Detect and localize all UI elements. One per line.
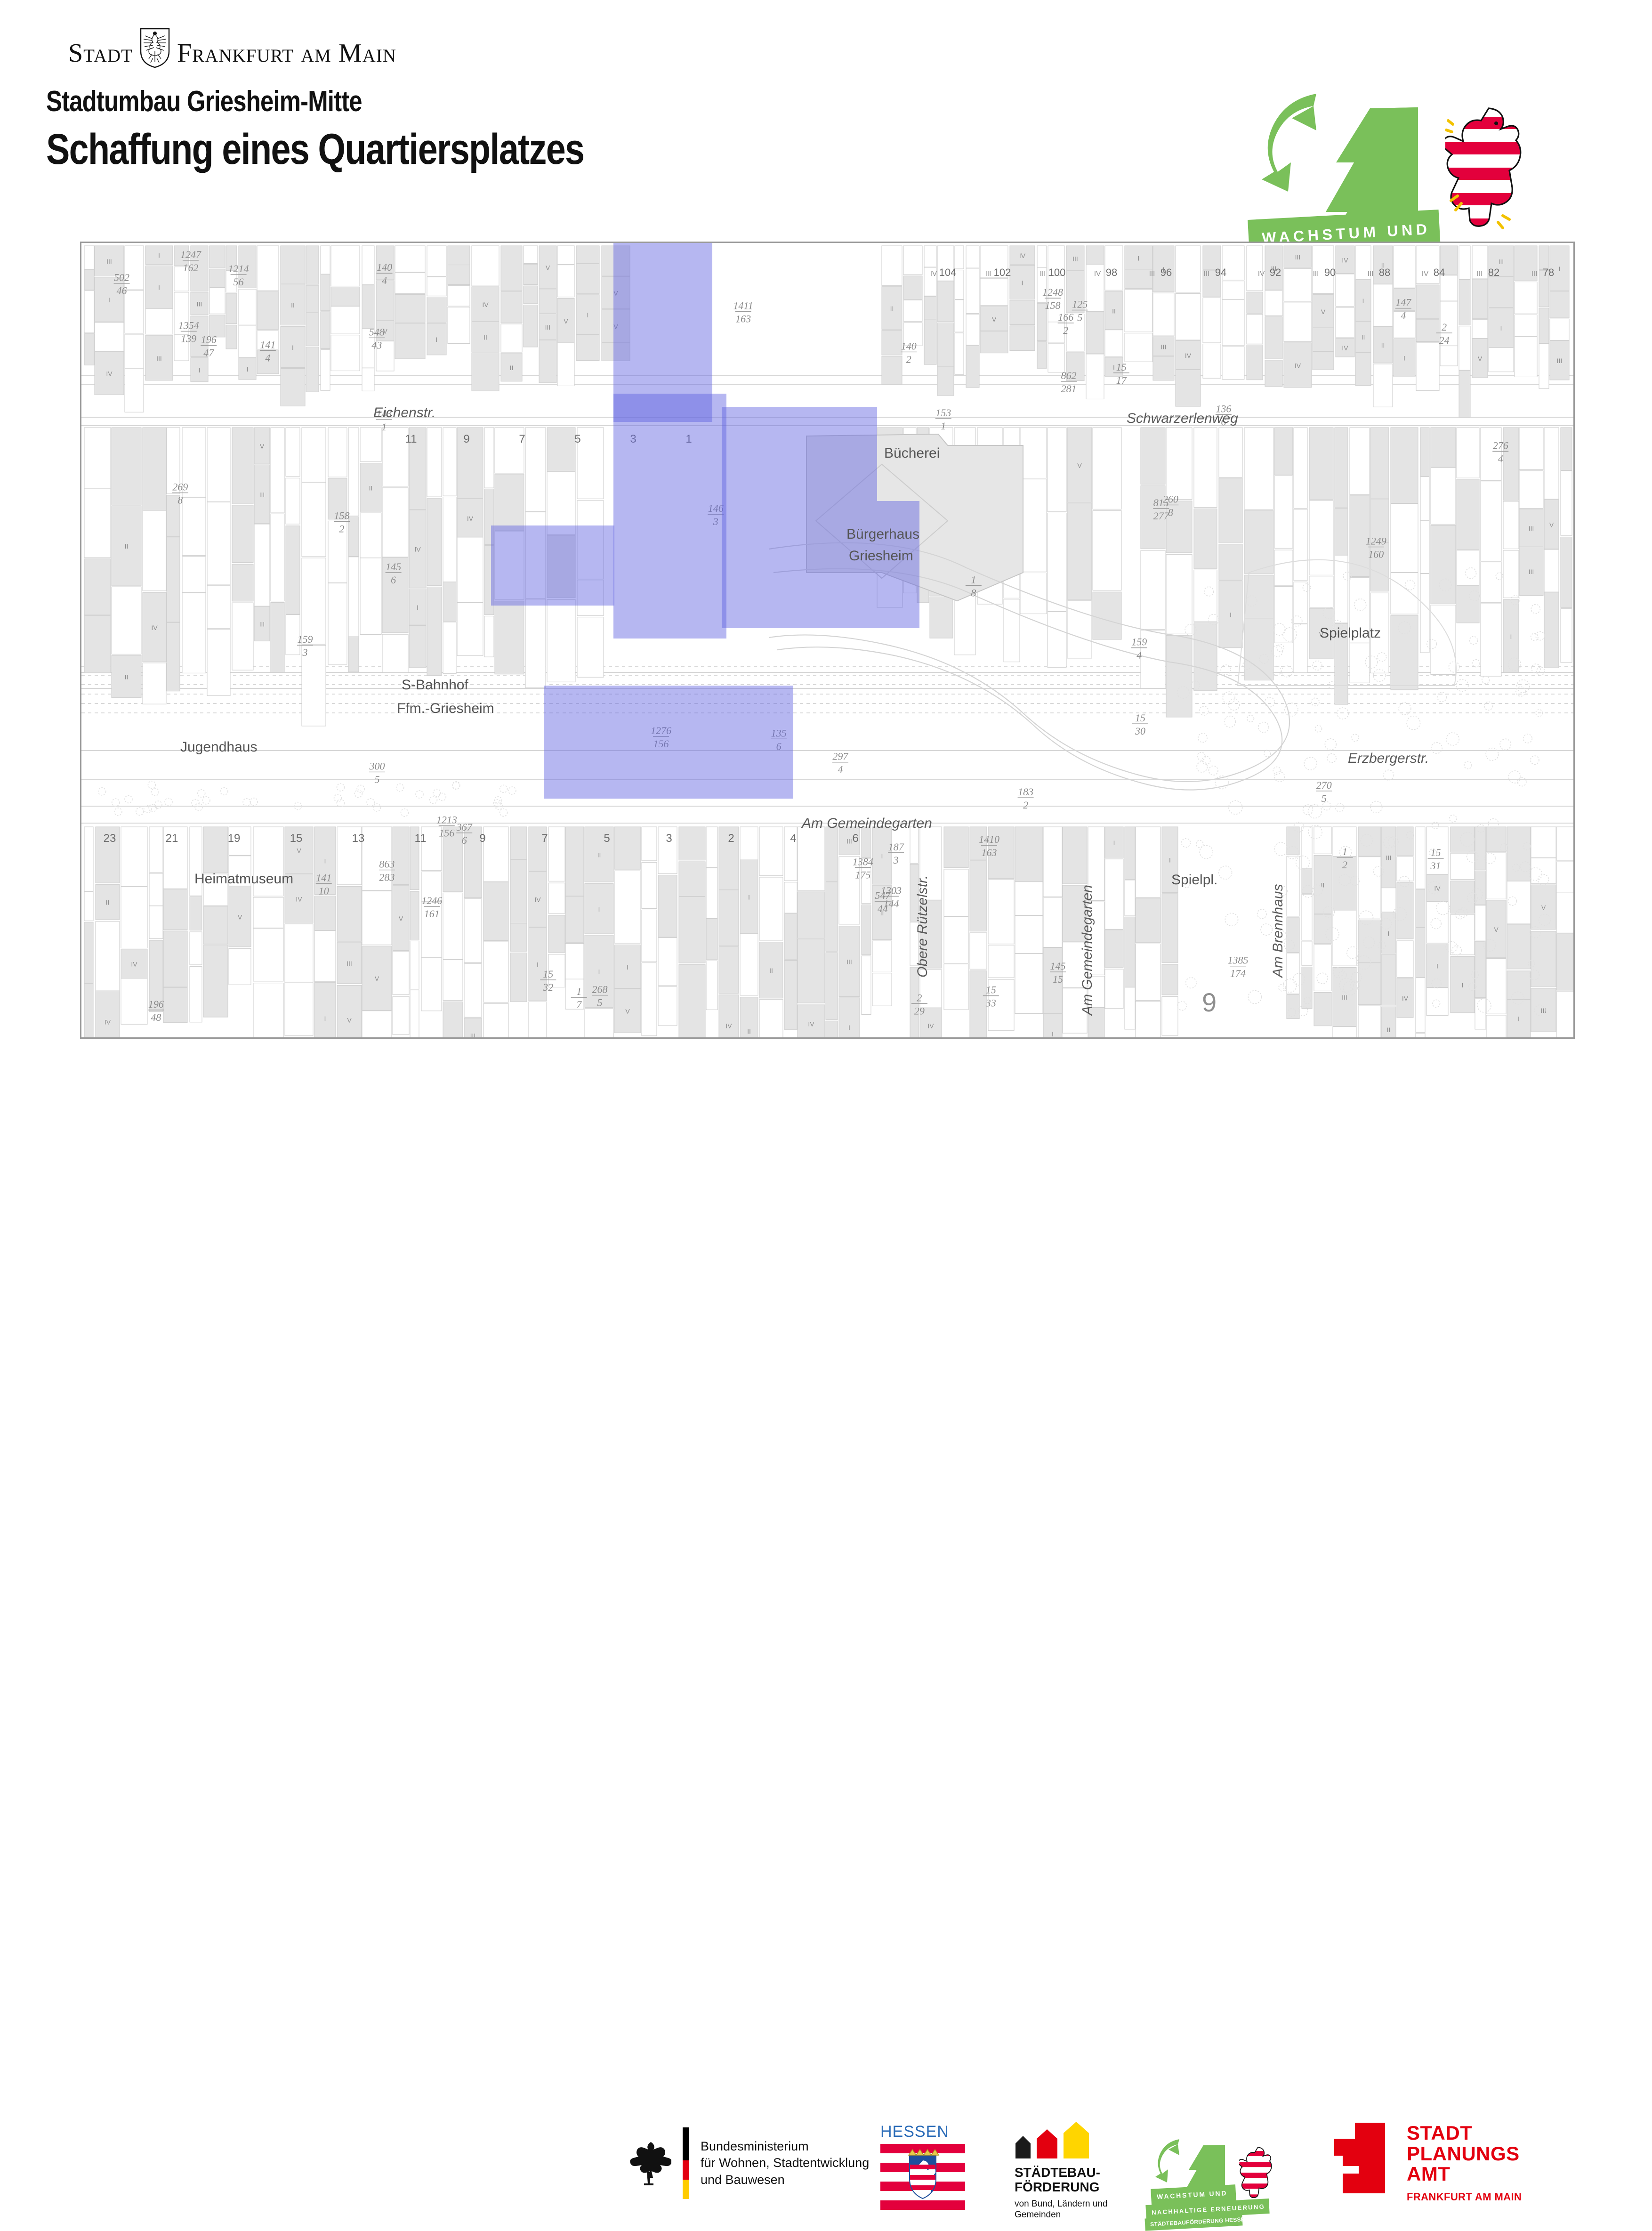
svg-text:125: 125 [1072, 298, 1088, 310]
svg-text:367: 367 [456, 821, 473, 833]
svg-text:17: 17 [1116, 374, 1127, 386]
svg-text:4: 4 [265, 352, 270, 364]
svg-text:V: V [1549, 521, 1554, 528]
map-big-number: 9 [1202, 987, 1217, 1018]
street-label-am-brennhaus: Am Brennhaus [1270, 884, 1286, 978]
svg-text:159: 159 [297, 633, 313, 645]
svg-text:1213: 1213 [436, 814, 457, 826]
street-label-am-gemeindegarten: Am Gemeindegarten [802, 816, 932, 832]
svg-text:863: 863 [379, 858, 395, 870]
svg-text:48: 48 [151, 1011, 161, 1023]
hessen-lion-icon-small [1239, 2145, 1276, 2204]
svg-text:IV: IV [1094, 270, 1101, 278]
svg-text:I: I [158, 283, 160, 291]
bundesadler-icon [626, 2136, 671, 2191]
svg-text:276: 276 [1493, 439, 1508, 451]
svg-text:6: 6 [462, 834, 467, 846]
svg-text:2: 2 [917, 992, 922, 1003]
highlight-area-south [544, 686, 793, 799]
svg-text:II: II [1112, 307, 1116, 315]
svg-text:15: 15 [1116, 361, 1127, 373]
svg-text:II: II [125, 673, 129, 681]
svg-text:23: 23 [104, 832, 116, 845]
svg-text:III: III [259, 491, 265, 498]
poi-jugendhaus: Jugendhaus [180, 739, 257, 755]
svg-text:43: 43 [371, 339, 382, 351]
svg-text:III: III [1531, 270, 1538, 278]
svg-text:IV: IV [1019, 252, 1026, 259]
highlight-area-east-wide [722, 501, 919, 628]
svg-text:III: III [106, 258, 112, 265]
svg-text:V: V [1494, 926, 1499, 933]
svg-text:547: 547 [875, 889, 891, 901]
svg-text:78: 78 [1543, 267, 1554, 278]
svg-text:II: II [747, 1027, 751, 1035]
svg-text:IV: IV [1342, 344, 1348, 352]
svg-text:1: 1 [576, 986, 581, 997]
svg-text:IV: IV [930, 270, 937, 278]
svg-text:I: I [587, 311, 589, 319]
svg-text:98: 98 [1106, 267, 1117, 278]
svg-text:IV: IV [534, 896, 541, 904]
svg-text:IV: IV [482, 301, 489, 308]
svg-text:I: I [1559, 265, 1561, 273]
highlight-area-west-arm [491, 525, 614, 606]
svg-text:III: III [197, 300, 202, 308]
svg-text:II: II [1321, 881, 1325, 889]
svg-text:III: III [1161, 343, 1167, 350]
svg-text:III: III [259, 620, 265, 628]
svg-text:III: III [1149, 270, 1155, 278]
svg-text:5: 5 [597, 997, 602, 1009]
svg-text:815: 815 [1153, 497, 1169, 509]
poi-buergerhaus: Bürgerhaus [846, 526, 919, 542]
svg-text:I: I [1403, 355, 1405, 362]
svg-text:15: 15 [290, 832, 303, 845]
three-houses-icon [1015, 2123, 1108, 2159]
german-flag-bar [683, 2127, 689, 2199]
hessen-lion-icon [1445, 104, 1530, 240]
svg-text:100: 100 [1048, 267, 1066, 278]
svg-text:I: I [1510, 633, 1512, 640]
svg-text:IV: IV [1402, 994, 1409, 1002]
svg-text:II: II [369, 485, 373, 492]
svg-text:2: 2 [1442, 321, 1447, 333]
svg-text:187: 187 [888, 841, 904, 853]
svg-text:2: 2 [1342, 859, 1347, 871]
svg-text:I: I [598, 905, 600, 913]
svg-text:3: 3 [666, 832, 672, 845]
svg-text:I: I [1113, 839, 1115, 847]
svg-text:1248: 1248 [1042, 286, 1063, 298]
svg-text:V: V [375, 975, 379, 982]
svg-text:140: 140 [901, 340, 917, 352]
svg-text:147: 147 [1395, 297, 1411, 308]
svg-text:13: 13 [352, 832, 365, 845]
svg-text:I: I [108, 296, 110, 304]
svg-text:160: 160 [1368, 549, 1384, 560]
svg-text:IV: IV [131, 961, 137, 968]
svg-text:III: III [1072, 255, 1078, 262]
svg-text:I: I [537, 961, 539, 968]
stadtplanungsamt-f-mark-icon [1332, 2123, 1389, 2193]
svg-text:141: 141 [260, 339, 275, 350]
svg-text:V: V [992, 315, 997, 323]
svg-text:24: 24 [1439, 334, 1450, 346]
frankfurt-eagle-crest-icon [139, 28, 170, 68]
svg-text:82: 82 [1488, 267, 1499, 278]
staedtebaufoerderung-logo: STÄDTEBAU- FÖRDERUNG von Bund, Ländern u… [1015, 2123, 1108, 2220]
svg-text:196: 196 [201, 334, 217, 346]
svg-text:1246: 1246 [421, 895, 442, 906]
svg-text:46: 46 [117, 285, 127, 297]
svg-text:1: 1 [971, 574, 976, 585]
poi-spielplatz: Spielplatz [1320, 625, 1381, 641]
svg-text:II: II [597, 851, 601, 859]
svg-text:3: 3 [302, 647, 307, 658]
svg-text:300: 300 [369, 760, 385, 772]
svg-text:862: 862 [1061, 370, 1077, 381]
svg-text:4: 4 [1498, 453, 1503, 464]
svg-text:I: I [1230, 611, 1232, 619]
svg-text:III: III [1295, 253, 1301, 261]
svg-text:II: II [1387, 1026, 1391, 1034]
svg-text:8: 8 [971, 587, 976, 598]
svg-text:90: 90 [1324, 267, 1336, 278]
svg-text:II: II [769, 967, 773, 974]
svg-text:V: V [546, 264, 550, 272]
city-logo-word-frankfurt: Frankfurt am Main [177, 40, 396, 66]
bmwsb-line2: für Wohnen, Stadtentwicklung [701, 2155, 869, 2172]
stadtplanungsamt-logo: STADT PLANUNGS AMT FRANKFURT AM MAIN [1332, 2123, 1522, 2203]
svg-text:III: III [1557, 357, 1563, 364]
svg-text:163: 163 [735, 313, 751, 324]
svg-text:V: V [238, 913, 242, 921]
svg-text:270: 270 [1316, 779, 1332, 791]
svg-text:15: 15 [1431, 847, 1441, 858]
svg-text:IV: IV [106, 370, 113, 378]
svg-text:III: III [1529, 568, 1534, 575]
svg-text:21: 21 [166, 832, 178, 845]
svg-text:31: 31 [1430, 860, 1441, 872]
staedtebau-line2: FÖRDERUNG [1015, 2180, 1108, 2194]
poster-header: Stadt Frankfurt am Main Stadtumbau Gries… [0, 0, 1652, 235]
svg-text:IV: IV [151, 624, 158, 631]
svg-text:162: 162 [183, 262, 198, 274]
svg-text:II: II [291, 301, 295, 309]
svg-text:174: 174 [1230, 968, 1246, 979]
svg-text:1354: 1354 [178, 319, 199, 331]
svg-text:I: I [748, 893, 750, 901]
svg-text:I: I [1052, 1030, 1054, 1037]
svg-text:V: V [1077, 461, 1082, 469]
svg-text:III: III [156, 355, 162, 362]
svg-text:9: 9 [463, 433, 469, 445]
svg-text:V: V [564, 317, 568, 325]
svg-text:V: V [297, 847, 301, 854]
svg-text:III: III [985, 270, 991, 278]
svg-text:I: I [436, 336, 438, 343]
svg-text:V: V [347, 1017, 352, 1024]
svg-text:2: 2 [728, 832, 734, 845]
svg-text:1411: 1411 [733, 299, 753, 311]
svg-text:5: 5 [1322, 792, 1327, 804]
svg-text:1249: 1249 [1366, 535, 1386, 547]
svg-text:158: 158 [334, 510, 349, 522]
svg-text:96: 96 [1160, 267, 1172, 278]
svg-text:I: I [598, 968, 600, 976]
svg-text:I: I [158, 252, 160, 259]
poi-buecherei: Bücherei [884, 445, 940, 461]
svg-text:II: II [890, 305, 894, 312]
svg-text:44: 44 [878, 903, 888, 914]
svg-text:I: I [1436, 962, 1438, 970]
svg-text:IV: IV [1342, 256, 1348, 264]
svg-text:183: 183 [1018, 786, 1033, 798]
svg-text:1384: 1384 [853, 856, 873, 867]
svg-text:II: II [1381, 341, 1385, 349]
svg-text:IV: IV [725, 1022, 732, 1030]
svg-text:I: I [1388, 930, 1390, 937]
svg-text:29: 29 [914, 1005, 925, 1017]
spa-line3: AMT [1407, 2164, 1522, 2184]
svg-text:145: 145 [1050, 960, 1066, 972]
svg-text:88: 88 [1379, 267, 1390, 278]
svg-text:2: 2 [906, 353, 911, 365]
svg-text:I: I [292, 344, 294, 351]
svg-text:1214: 1214 [228, 263, 249, 275]
street-label-obere-ruetzelstr: Obere Rützelstr. [915, 875, 931, 978]
svg-text:94: 94 [1215, 267, 1226, 278]
svg-text:4: 4 [1136, 649, 1142, 661]
spa-line1: STADT [1407, 2123, 1522, 2143]
svg-text:III: III [1386, 854, 1392, 862]
svg-text:III: III [470, 1032, 476, 1037]
svg-text:III: III [1529, 525, 1534, 532]
svg-text:102: 102 [994, 267, 1011, 278]
svg-text:IV: IV [927, 1022, 934, 1029]
stadtplanungsamt-text: STADT PLANUNGS AMT FRANKFURT AM MAIN [1407, 2123, 1522, 2203]
svg-text:I: I [1022, 279, 1023, 286]
svg-text:I: I [1113, 364, 1115, 371]
page-title: Schaffung eines Quartiersplatzes [46, 125, 584, 174]
poi-heimatmuseum: Heimatmuseum [194, 871, 293, 887]
recycle-arrow-icon [1262, 94, 1316, 192]
poi-spielpl: Spielpl. [1171, 872, 1217, 888]
svg-text:IV: IV [467, 515, 474, 522]
street-label-am-gemeindegarten-vert: Am Gemeindegarten [1080, 885, 1096, 1015]
svg-text:1385: 1385 [1227, 954, 1248, 966]
svg-text:2: 2 [1063, 324, 1068, 336]
city-logo-word-stadt: Stadt [68, 40, 133, 66]
svg-text:5: 5 [574, 433, 580, 445]
svg-text:II: II [484, 334, 487, 341]
svg-text:5: 5 [1077, 311, 1082, 323]
svg-text:7: 7 [576, 999, 582, 1010]
svg-text:15: 15 [986, 984, 996, 996]
svg-text:IV: IV [414, 546, 421, 553]
staedtebau-line1: STÄDTEBAU- [1015, 2165, 1108, 2180]
svg-text:161: 161 [424, 908, 440, 920]
poi-s-bahnhof-line2: Ffm.-Griesheim [397, 701, 494, 717]
svg-text:145: 145 [386, 561, 401, 573]
svg-text:II: II [510, 364, 514, 372]
svg-text:104: 104 [939, 267, 957, 278]
svg-text:II: II [125, 542, 129, 550]
svg-text:I: I [881, 852, 883, 860]
svg-text:92: 92 [1270, 267, 1281, 278]
title-block: Stadtumbau Griesheim-Mitte Schaffung ein… [46, 85, 702, 174]
svg-text:159: 159 [1131, 636, 1147, 648]
spa-line2: PLANUNGS [1407, 2143, 1522, 2164]
svg-text:III: III [846, 958, 852, 966]
staedtebau-line3: von Bund, Ländern und [1015, 2199, 1108, 2209]
svg-text:V: V [1541, 904, 1546, 911]
svg-text:IV: IV [1295, 362, 1301, 369]
svg-text:158: 158 [1045, 299, 1060, 311]
svg-text:1247: 1247 [180, 249, 201, 260]
svg-text:141: 141 [316, 872, 331, 884]
svg-text:56: 56 [234, 276, 244, 288]
bmwsb-logo: Bundesministerium für Wohnen, Stadtentwi… [626, 2127, 869, 2199]
hessen-flag-icon [880, 2144, 965, 2210]
svg-text:I: I [324, 857, 326, 865]
poi-s-bahnhof: S-Bahnhof [402, 677, 468, 693]
svg-text:III: III [347, 960, 352, 967]
svg-text:IV: IV [296, 895, 302, 903]
svg-text:III: III [1204, 270, 1210, 278]
svg-text:9: 9 [479, 832, 485, 845]
svg-text:2: 2 [339, 523, 344, 535]
wachstum-erneuerung-logo-footer: WACHSTUM UND NACHHALTIGE ERNEUERUNG STÄD… [1149, 2137, 1290, 2222]
svg-text:I: I [1462, 981, 1464, 989]
svg-text:1: 1 [1342, 846, 1347, 857]
svg-text:4: 4 [1401, 310, 1406, 322]
svg-text:I: I [1500, 324, 1502, 332]
svg-text:139: 139 [181, 332, 196, 344]
project-subtitle: Stadtumbau Griesheim-Mitte [46, 85, 584, 118]
svg-text:84: 84 [1434, 267, 1445, 278]
svg-text:V: V [625, 1007, 630, 1015]
svg-text:I: I [1138, 255, 1140, 262]
svg-text:4: 4 [838, 764, 843, 776]
svg-text:163: 163 [982, 847, 997, 858]
svg-text:III: III [545, 323, 551, 331]
poster-footer: Bundesministerium für Wohnen, Stadtentwi… [0, 1059, 1652, 1168]
svg-text:I: I [848, 1024, 850, 1031]
svg-text:IV: IV [1185, 352, 1192, 359]
svg-text:V: V [1321, 308, 1326, 315]
svg-text:140: 140 [377, 261, 392, 273]
recycle-arrow-icon-small [1155, 2139, 1179, 2182]
staedtebau-line4: Gemeinden [1015, 2209, 1108, 2220]
svg-text:I: I [417, 604, 419, 611]
svg-text:4: 4 [382, 275, 387, 286]
svg-text:III: III [1342, 994, 1347, 1001]
stadt-frankfurt-logo: Stadt Frankfurt am Main [68, 26, 396, 66]
svg-text:32: 32 [542, 981, 553, 993]
svg-text:I: I [627, 963, 629, 971]
cadastral-map[interactable]: IIIIIVIIIIIIIIIIIIIVIIVIIIIVIIIVIVVIIVIV… [80, 242, 1575, 1039]
svg-text:15: 15 [1135, 712, 1145, 724]
svg-text:196: 196 [148, 998, 164, 1010]
svg-text:156: 156 [439, 827, 454, 839]
spa-line4: FRANKFURT AM MAIN [1407, 2191, 1522, 2203]
svg-text:III: III [1040, 270, 1046, 278]
svg-text:III: III [1499, 258, 1504, 266]
bmwsb-text: Bundesministerium für Wohnen, Stadtentwi… [701, 2138, 869, 2189]
bmwsb-line3: und Bauwesen [701, 2172, 869, 2189]
svg-text:47: 47 [203, 347, 214, 359]
svg-text:11: 11 [415, 832, 427, 845]
svg-text:2: 2 [1023, 799, 1028, 811]
svg-text:IV: IV [808, 1020, 814, 1027]
svg-text:V: V [1478, 355, 1483, 363]
svg-text:I: I [1362, 297, 1364, 305]
svg-text:175: 175 [855, 869, 870, 881]
svg-text:1410: 1410 [979, 833, 999, 845]
svg-text:502: 502 [114, 272, 129, 283]
svg-text:III: III [1368, 270, 1374, 278]
svg-text:11: 11 [405, 433, 417, 445]
svg-text:8: 8 [177, 494, 183, 506]
svg-text:283: 283 [379, 872, 395, 883]
svg-text:297: 297 [832, 751, 848, 762]
svg-text:I: I [199, 366, 201, 374]
svg-text:277: 277 [1153, 510, 1169, 522]
svg-text:4: 4 [790, 832, 796, 845]
svg-text:153: 153 [935, 407, 951, 419]
svg-text:3: 3 [893, 854, 899, 866]
svg-text:III: III [1477, 270, 1483, 278]
svg-text:281: 281 [1061, 383, 1077, 395]
svg-text:1: 1 [941, 420, 946, 432]
highlight-area-east-arm [722, 407, 877, 501]
hessen-logo: HESSEN [880, 2123, 965, 2210]
street-label-eichenstr: Eichenstr. [373, 405, 435, 421]
map-canvas: IIIIIVIIIIIIIIIIIIIVIIVIIIIVIIIVIVVIIVIV… [81, 243, 1573, 1037]
svg-text:10: 10 [319, 885, 329, 897]
svg-text:30: 30 [1135, 725, 1145, 737]
svg-text:19: 19 [228, 832, 241, 845]
svg-text:I: I [1169, 857, 1171, 864]
svg-text:6: 6 [391, 574, 396, 586]
svg-text:5: 5 [604, 832, 610, 845]
svg-text:6: 6 [852, 832, 858, 845]
hessen-wordmark: HESSEN [880, 2123, 965, 2141]
svg-text:5: 5 [375, 773, 380, 785]
svg-text:1: 1 [381, 421, 387, 433]
svg-text:166: 166 [1058, 311, 1073, 323]
svg-text:268: 268 [592, 984, 607, 995]
svg-text:269: 269 [172, 481, 188, 493]
svg-text:V: V [399, 914, 403, 922]
bmwsb-line1: Bundesministerium [701, 2138, 869, 2155]
svg-text:IV: IV [1258, 270, 1265, 278]
svg-text:IV: IV [105, 1018, 111, 1026]
svg-text:III: III [1313, 270, 1319, 278]
highlight-area-main [613, 394, 726, 639]
svg-text:548: 548 [369, 326, 385, 338]
svg-text:15: 15 [543, 968, 553, 980]
svg-text:33: 33 [985, 997, 996, 1009]
svg-text:I: I [324, 1015, 326, 1022]
svg-text:15: 15 [1053, 973, 1063, 985]
svg-text:II: II [1362, 333, 1365, 341]
svg-text:IV: IV [1422, 270, 1428, 278]
street-label-erzbergerstr: Erzbergerstr. [1348, 751, 1429, 767]
svg-text:V: V [260, 443, 265, 450]
